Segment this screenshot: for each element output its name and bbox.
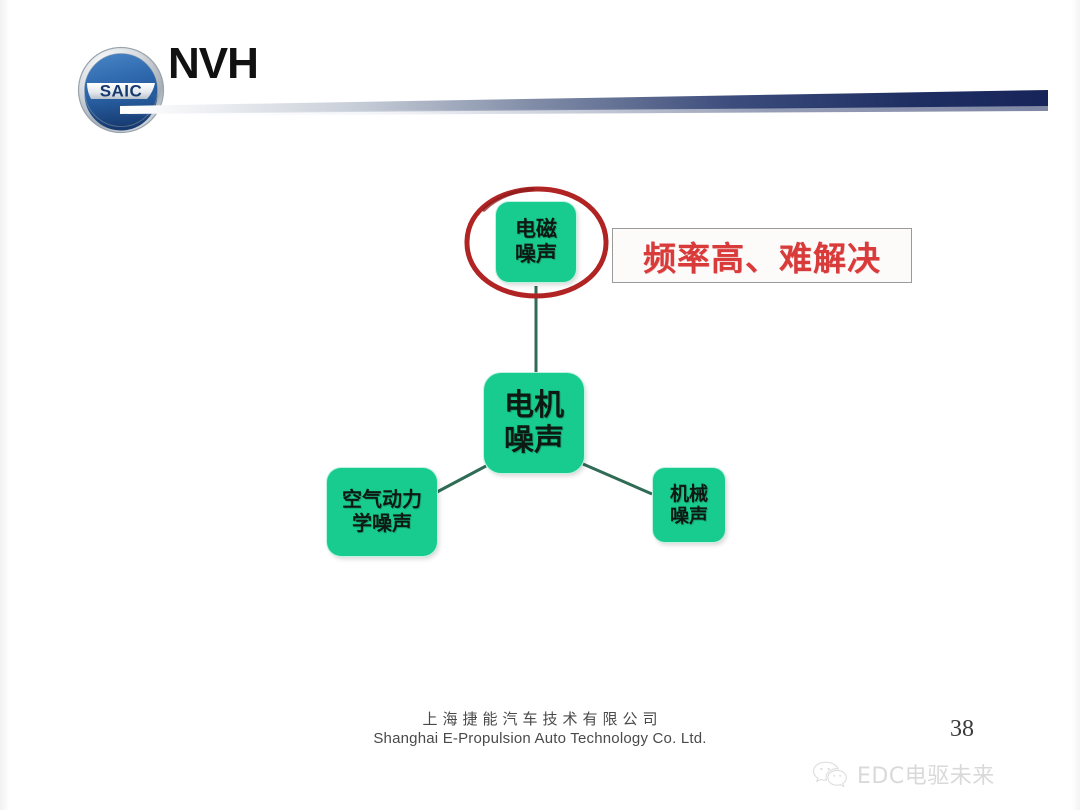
watermark-text: EDC电驱未来 [857, 758, 995, 790]
watermark: EDC电驱未来 [812, 758, 995, 790]
node-mech-label: 机械噪声 [670, 483, 708, 528]
company-name-en: Shanghai E-Propulsion Auto Technology Co… [0, 730, 1080, 747]
connector-motor-to-aero [437, 466, 486, 492]
callout-text: 频率高、难解决 [643, 232, 881, 280]
slide-canvas: SAIC NVH [0, 0, 1080, 810]
header-divider [120, 86, 1048, 120]
wechat-icon [812, 760, 848, 788]
noise-source-diagram: 电磁噪声 电机噪声 空气动力学噪声 机械噪声 频率高、难解决 [0, 140, 1080, 680]
node-electromagnetic-noise[interactable]: 电磁噪声 [496, 202, 576, 282]
node-aero-label: 空气动力学噪声 [342, 488, 422, 535]
page-number: 38 [950, 716, 974, 743]
page-title: NVH [168, 42, 258, 86]
node-mechanical-noise[interactable]: 机械噪声 [653, 468, 725, 542]
node-em-label: 电磁噪声 [515, 217, 557, 267]
callout-box: 频率高、难解决 [612, 228, 912, 283]
company-name-cn: 上海捷能汽车技术有限公司 [0, 708, 1080, 729]
connector-motor-to-mech [583, 464, 652, 494]
node-motor-noise[interactable]: 电机噪声 [484, 373, 584, 473]
node-aerodynamic-noise[interactable]: 空气动力学噪声 [327, 468, 437, 556]
node-motor-label: 电机噪声 [504, 388, 564, 459]
slide-header: SAIC NVH [0, 0, 1080, 140]
